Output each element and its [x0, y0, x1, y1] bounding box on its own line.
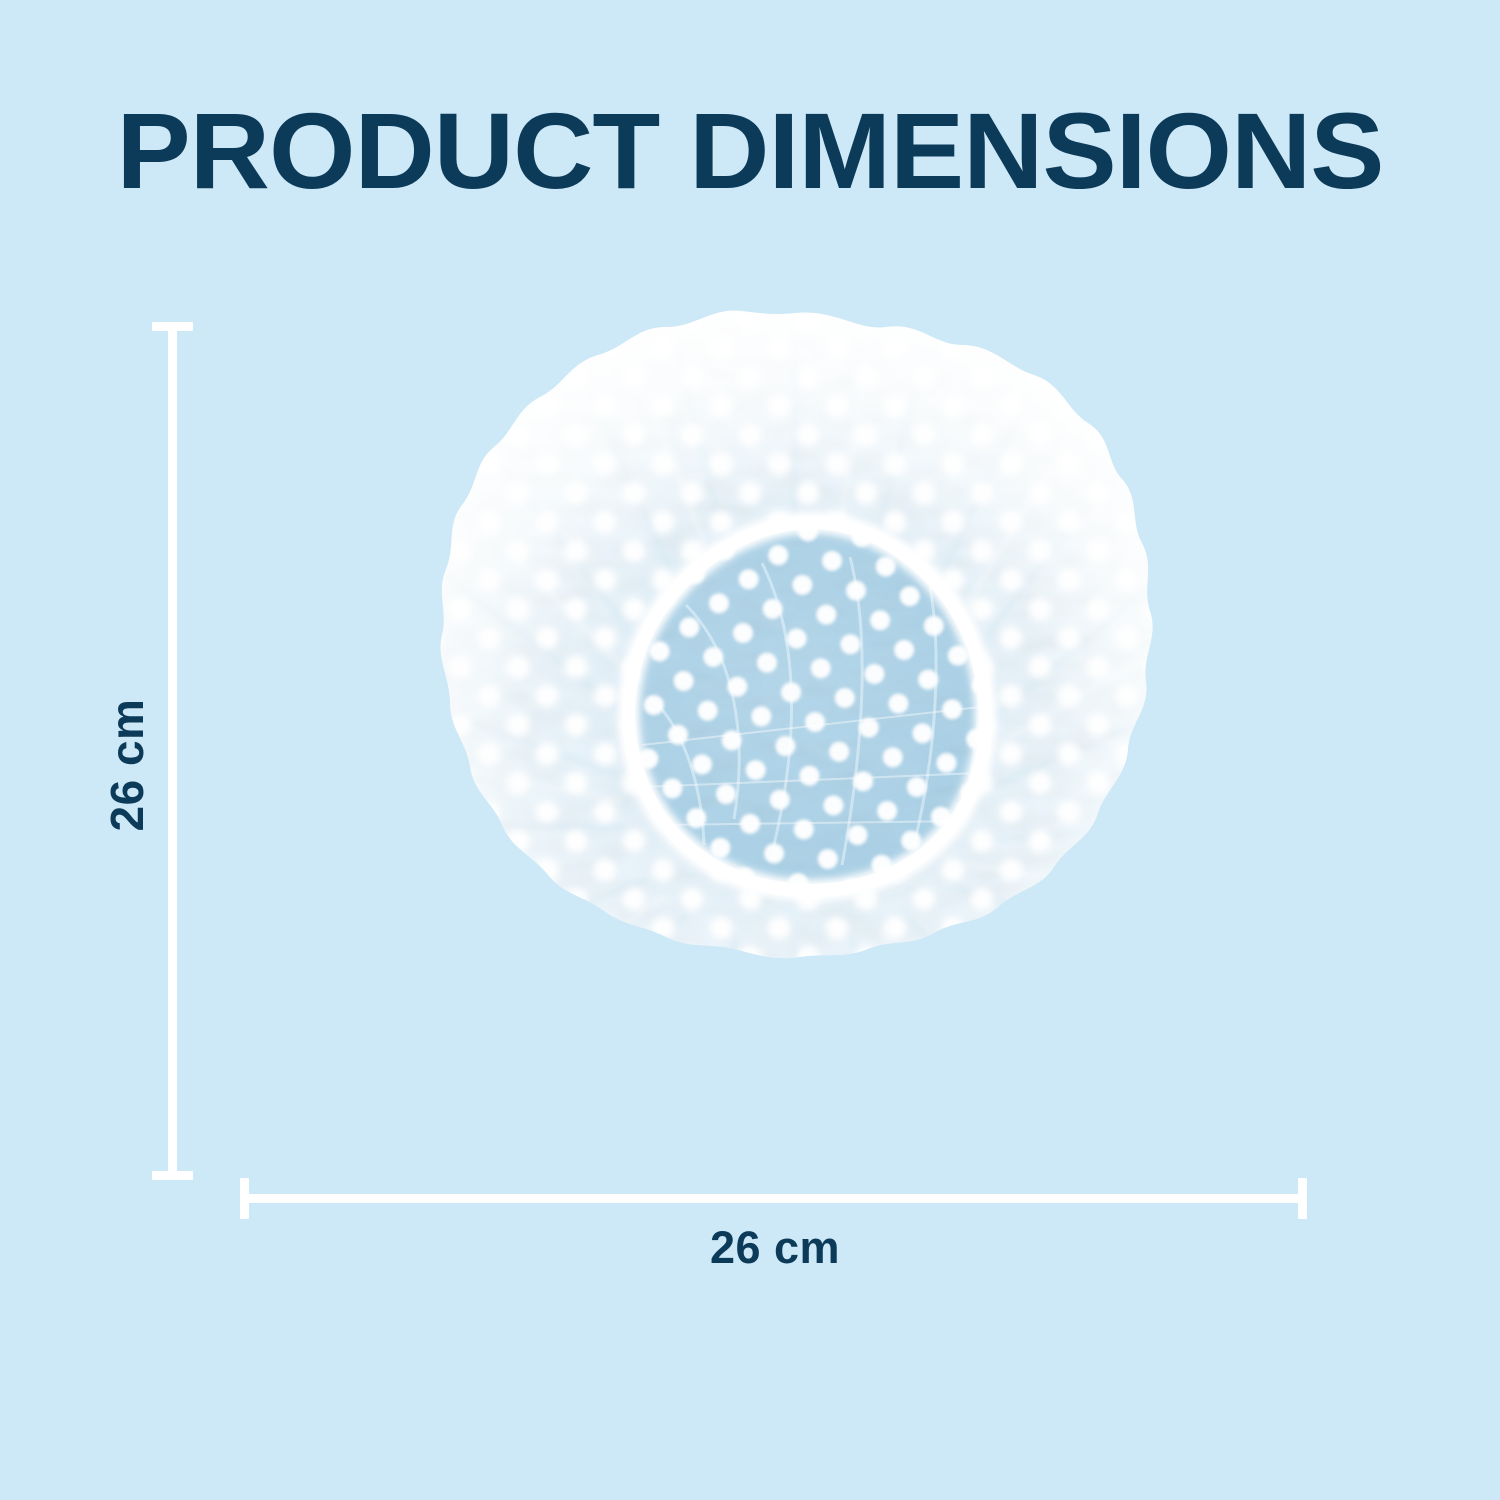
product-image — [330, 305, 1260, 1185]
height-dimension-line — [168, 322, 177, 1180]
page-title: PRODUCT DIMENSIONS — [0, 96, 1500, 206]
height-dimension-cap-top — [152, 322, 193, 331]
width-dimension-line — [240, 1194, 1307, 1203]
width-dimension-cap-left — [240, 1178, 249, 1219]
height-dimension-label: 26 cm — [100, 640, 154, 890]
height-dimension-cap-bottom — [152, 1171, 193, 1180]
infographic-canvas: PRODUCT DIMENSIONS — [0, 0, 1500, 1500]
width-dimension-cap-right — [1298, 1178, 1307, 1219]
width-dimension-label: 26 cm — [540, 1222, 1010, 1274]
